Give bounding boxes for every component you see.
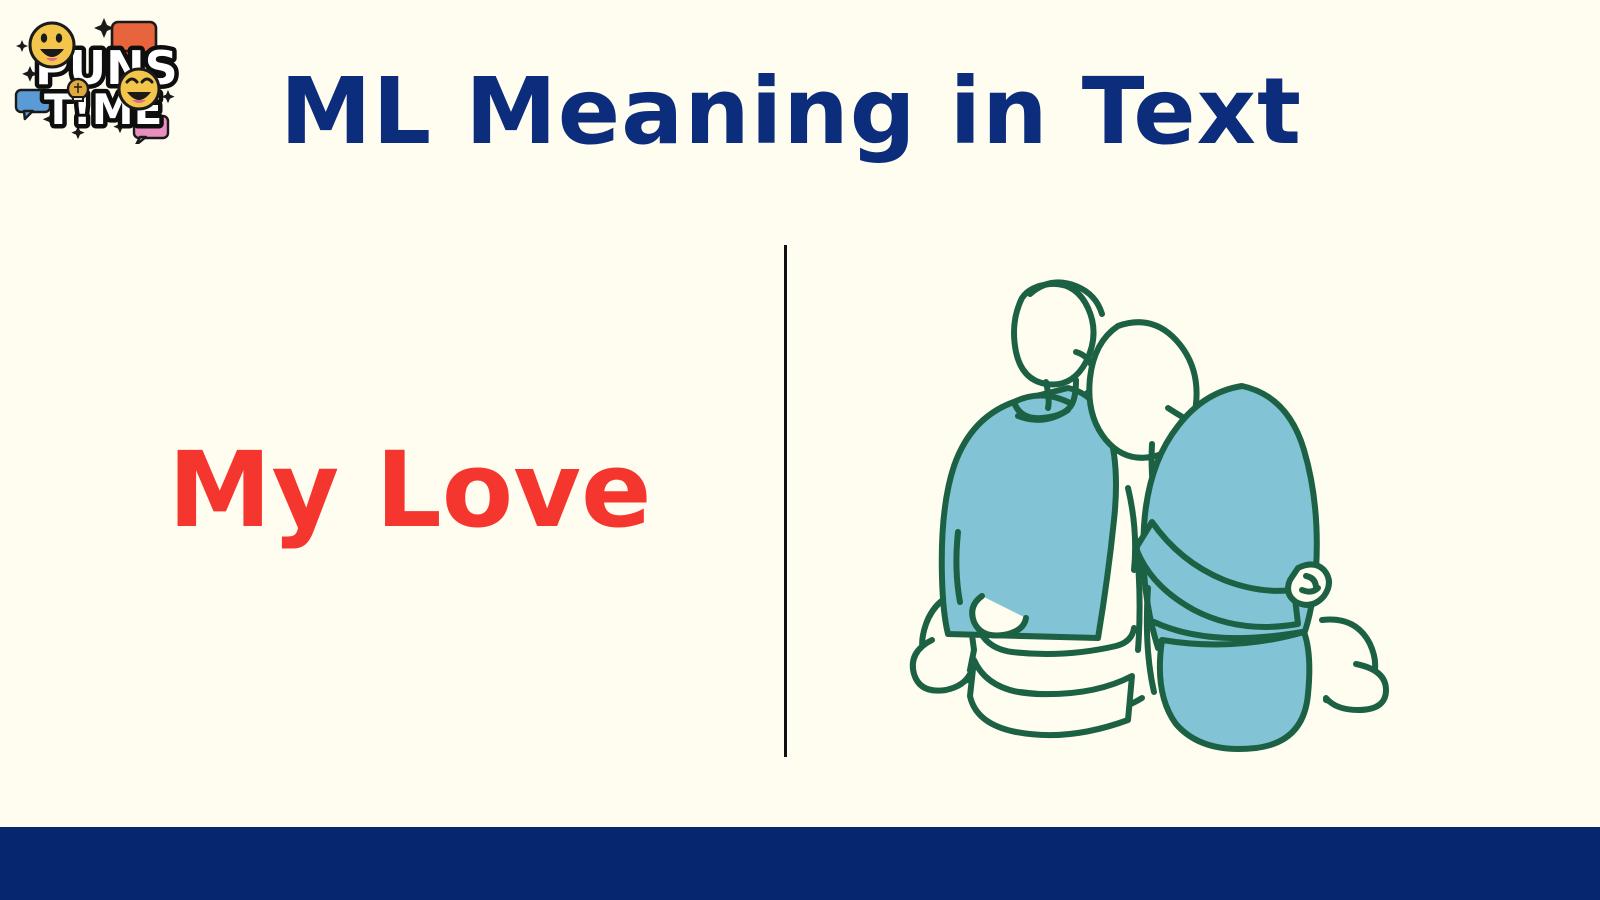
footer-bar (0, 827, 1600, 900)
left-person-torso (942, 388, 1116, 638)
page-title: ML Meaning in Text (280, 56, 1420, 168)
slide-canvas: PUNS T!ME (0, 0, 1600, 900)
smiley-emoji-icon (30, 23, 74, 67)
term-meaning-text: My Love (168, 428, 728, 552)
left-person-head (1014, 284, 1094, 385)
couple-sitting-embracing-illustration (870, 240, 1480, 760)
lightbulb-icon (68, 79, 88, 101)
puns-time-logo[interactable]: PUNS T!ME (8, 4, 188, 144)
laughing-emoji-icon (119, 69, 159, 109)
vertical-divider (784, 245, 787, 757)
